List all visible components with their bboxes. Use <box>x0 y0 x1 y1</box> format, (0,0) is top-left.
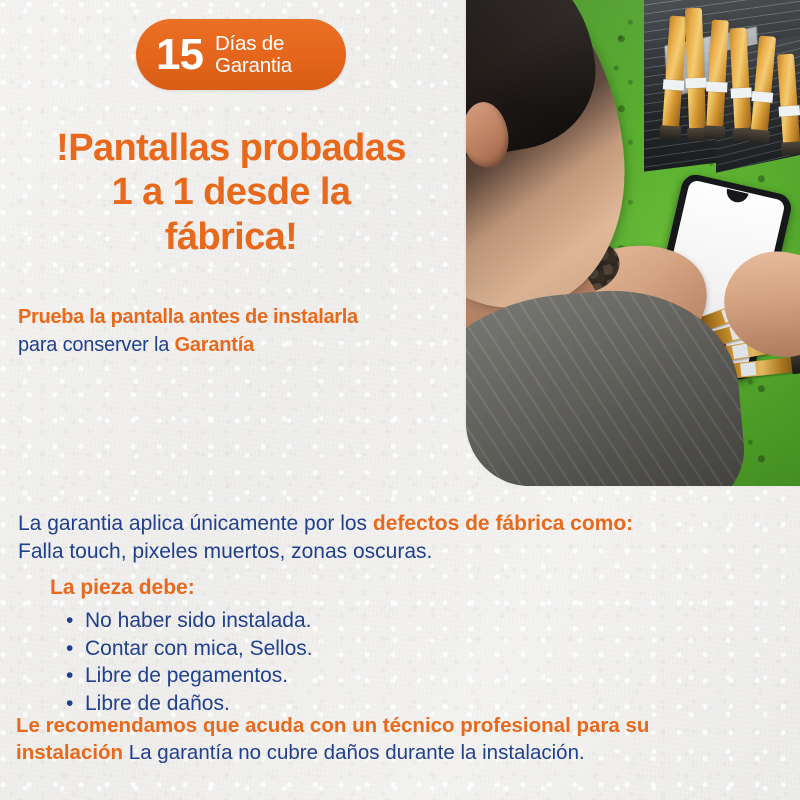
list-item: No haber sido instalada. <box>66 607 550 635</box>
warranty-badge-line1: Días de <box>215 33 292 54</box>
footer-line-2: instalación La garantía no cubre daños d… <box>16 739 784 766</box>
footer-highlight-1: Le recomendamos que acuda con un técnico… <box>16 714 649 737</box>
footer-plain-tail: La garantía no cubre daños durante la in… <box>129 741 585 764</box>
subheading-plain-text: para conserver la <box>18 334 169 356</box>
paragraph-highlight-text: defectos de fábrica como: <box>373 512 633 535</box>
technician-photo <box>466 0 800 486</box>
subheading-block: Prueba la pantalla antes de instalarla p… <box>18 305 458 358</box>
warranty-badge-line2: Garantia <box>215 55 292 76</box>
warranty-badge-text: Días de Garantia <box>215 33 292 76</box>
conditions-list-title: La pieza debe: <box>50 576 550 600</box>
warranty-days-number: 15 <box>156 33 203 77</box>
subheading-line-1: Prueba la pantalla antes de instalarla <box>18 305 458 330</box>
conditions-list: No haber sido instalada. Contar con mica… <box>50 607 550 718</box>
promo-poster: 15 Días de Garantia <box>0 0 800 800</box>
conditions-list-block: La pieza debe: No haber sido instalada. … <box>50 576 550 718</box>
footer-highlight-2: instalación <box>16 741 123 764</box>
paragraph-plain-text: La garantia aplica únicamente por los <box>18 512 367 535</box>
subheading-warranty-word: Garantía <box>174 334 254 356</box>
footer-line-1: Le recomendamos que acuda con un técnico… <box>16 712 784 739</box>
paragraph-line-2: Falla touch, pixeles muertos, zonas oscu… <box>18 538 784 566</box>
paragraph-line-1: La garantia aplica únicamente por los de… <box>18 510 784 538</box>
subheading-line-2: para conserver la Garantía <box>18 332 458 358</box>
warranty-badge: 15 Días de Garantia <box>136 19 346 90</box>
list-item: Contar con mica, Sellos. <box>66 635 550 663</box>
headline-line-2: 1 a 1 desde la <box>0 170 462 214</box>
warranty-coverage-paragraph: La garantia aplica únicamente por los de… <box>18 510 784 565</box>
main-headline: !Pantallas probadas 1 a 1 desde la fábri… <box>0 126 462 259</box>
list-item: Libre de pegamentos. <box>66 662 550 690</box>
headline-line-3: fábrica! <box>0 215 462 259</box>
photo-scene <box>466 0 800 486</box>
headline-line-1: !Pantallas probadas <box>0 126 462 170</box>
installation-recommendation: Le recomendamos que acuda con un técnico… <box>16 712 784 767</box>
